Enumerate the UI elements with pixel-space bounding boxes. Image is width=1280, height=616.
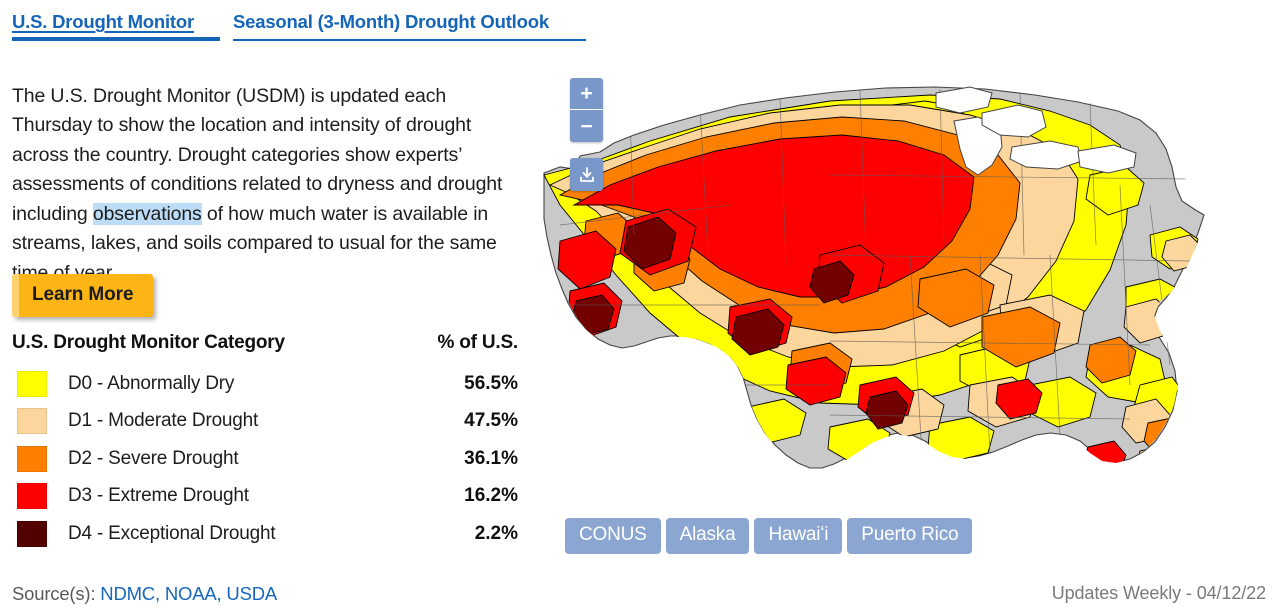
region-button-puerto-rico[interactable]: Puerto Rico	[847, 518, 972, 554]
legend-row: D0 - Abnormally Dry56.5%	[12, 365, 518, 403]
source-link-list: NDMC, NOAA, USDA	[100, 583, 277, 604]
legend-category-label: D2 - Severe Drought	[68, 448, 446, 470]
learn-more-wrapper: Learn More	[12, 274, 153, 317]
legend-percent-value: 47.5%	[446, 410, 518, 432]
source-link-ndmc[interactable]: NDMC	[100, 583, 155, 604]
download-icon	[577, 165, 597, 185]
legend-percent-header: % of U.S.	[437, 332, 518, 354]
source-link-noaa[interactable]: NOAA	[165, 583, 217, 604]
legend-percent-value: 56.5%	[446, 373, 518, 395]
legend-percent-value: 2.2%	[446, 523, 518, 545]
tab-bar-rule	[233, 39, 586, 41]
legend-category-label: D3 - Extreme Drought	[68, 485, 446, 507]
legend-color-swatch	[17, 483, 47, 509]
region-button-conus[interactable]: CONUS	[565, 518, 661, 554]
tab-bar: U.S. Drought Monitor Seasonal (3-Month) …	[0, 0, 1280, 44]
zoom-in-button[interactable]: +	[570, 78, 603, 110]
us-drought-map[interactable]	[530, 55, 1280, 570]
legend-color-swatch	[17, 408, 47, 434]
drought-map-panel[interactable]: + − CONUSAlaskaHawaiʻiPuerto Rico	[530, 55, 1280, 570]
selected-text-observations: observations	[93, 203, 202, 225]
region-button-alaska[interactable]: Alaska	[666, 518, 750, 554]
legend-header-row: U.S. Drought Monitor Category % of U.S.	[12, 332, 518, 354]
legend-category-label: D4 - Exceptional Drought	[68, 523, 446, 545]
active-tab-indicator	[12, 37, 220, 41]
legend-color-swatch	[17, 371, 47, 397]
update-cadence-label: Updates Weekly - 04/12/22	[1052, 583, 1266, 604]
coastal-water	[1130, 459, 1236, 521]
tab-seasonal-drought-outlook[interactable]: Seasonal (3-Month) Drought Outlook	[233, 11, 549, 33]
tab-us-drought-monitor[interactable]: U.S. Drought Monitor	[12, 11, 194, 33]
legend-row: D1 - Moderate Drought47.5%	[12, 403, 518, 441]
legend-row: D3 - Extreme Drought16.2%	[12, 478, 518, 516]
left-panel: The U.S. Drought Monitor (USDM) is updat…	[12, 62, 528, 308]
region-button-hawai-i[interactable]: Hawaiʻi	[754, 518, 842, 554]
legend-row-list: D0 - Abnormally Dry56.5%D1 - Moderate Dr…	[12, 365, 518, 553]
legend-category-header: U.S. Drought Monitor Category	[12, 332, 285, 354]
intro-paragraph: The U.S. Drought Monitor (USDM) is updat…	[12, 82, 528, 289]
legend-row: D2 - Severe Drought36.1%	[12, 440, 518, 478]
region-selector[interactable]: CONUSAlaskaHawaiʻiPuerto Rico	[565, 518, 972, 554]
legend-percent-value: 36.1%	[446, 448, 518, 470]
source-separator: ,	[155, 583, 165, 604]
legend-percent-value: 16.2%	[446, 485, 518, 507]
drought-category-legend: U.S. Drought Monitor Category % of U.S. …	[12, 332, 518, 553]
source-link-usda[interactable]: USDA	[226, 583, 277, 604]
legend-color-swatch	[17, 521, 47, 547]
source-separator: ,	[217, 583, 227, 604]
map-zoom-controls[interactable]: + −	[570, 78, 603, 142]
download-button[interactable]	[570, 158, 603, 191]
source-footer: Source(s): NDMC, NOAA, USDA	[12, 583, 277, 605]
zoom-out-button[interactable]: −	[570, 110, 603, 142]
legend-category-label: D1 - Moderate Drought	[68, 410, 446, 432]
legend-row: D4 - Exceptional Drought2.2%	[12, 515, 518, 553]
source-label: Source(s):	[12, 583, 95, 604]
legend-category-label: D0 - Abnormally Dry	[68, 373, 446, 395]
legend-color-swatch	[17, 446, 47, 472]
learn-more-button[interactable]: Learn More	[12, 274, 153, 317]
